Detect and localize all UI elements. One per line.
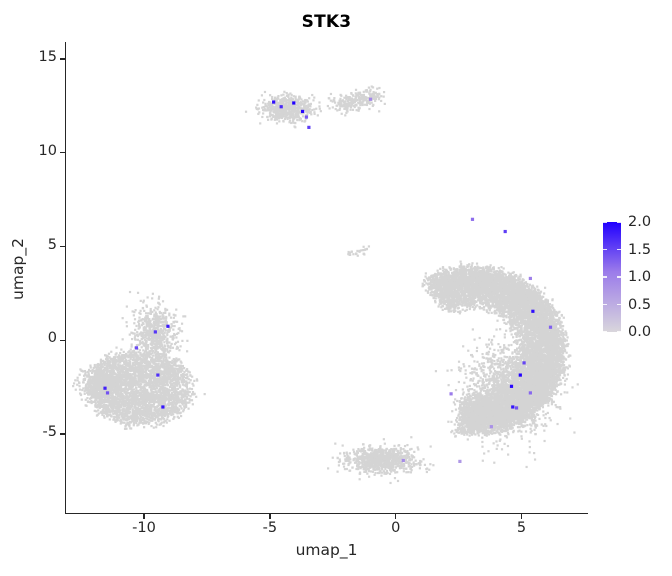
scatter-canvas: [66, 42, 587, 513]
y-tick-mark: [60, 246, 65, 247]
x-tick-label: 5: [517, 520, 526, 536]
x-tick-label: -10: [132, 520, 156, 536]
page-title: STK3: [66, 12, 587, 32]
x-tick-mark: [521, 514, 522, 519]
colorbar-tick-mark: [603, 276, 607, 277]
colorbar-tick-mark: [617, 222, 621, 223]
x-tick-mark: [269, 514, 270, 519]
colorbar-tick-mark: [603, 331, 607, 332]
colorbar-tick-mark: [603, 249, 607, 250]
colorbar-label: 0.0: [628, 324, 651, 340]
x-tick-mark: [143, 514, 144, 519]
y-tick-mark: [60, 340, 65, 341]
colorbar-tick-mark: [617, 331, 621, 332]
colorbar-label: 0.5: [628, 297, 651, 313]
y-axis-label: umap_2: [9, 169, 27, 369]
colorbar-label: 1.5: [628, 242, 651, 258]
colorbar-legend: 0.00.51.01.52.0: [603, 222, 669, 334]
colorbar-tick-mark: [617, 249, 621, 250]
y-tick-mark: [60, 58, 65, 59]
y-tick-mark: [60, 433, 65, 434]
plot-area: [66, 42, 587, 513]
x-tick-label: 0: [391, 520, 400, 536]
colorbar-label: 1.0: [628, 269, 651, 285]
y-tick-label: 5: [48, 237, 57, 253]
y-axis-spine: [65, 42, 66, 514]
colorbar-tick-mark: [603, 304, 607, 305]
x-tick-label: -5: [263, 520, 277, 536]
colorbar-tick-mark: [617, 304, 621, 305]
x-tick-mark: [395, 514, 396, 519]
scatter-plot-figure: STK3 -5051015 -10-505 umap_1 umap_2 0.00…: [0, 0, 672, 576]
x-axis-label: umap_1: [66, 541, 587, 559]
y-tick-label: 10: [39, 143, 57, 159]
colorbar-tick-mark: [603, 222, 607, 223]
y-tick-label: 15: [39, 49, 57, 65]
colorbar-label: 2.0: [628, 214, 651, 230]
colorbar-tick-mark: [617, 276, 621, 277]
y-tick-mark: [60, 152, 65, 153]
y-tick-label: 0: [48, 330, 57, 346]
y-tick-label: -5: [43, 424, 57, 440]
